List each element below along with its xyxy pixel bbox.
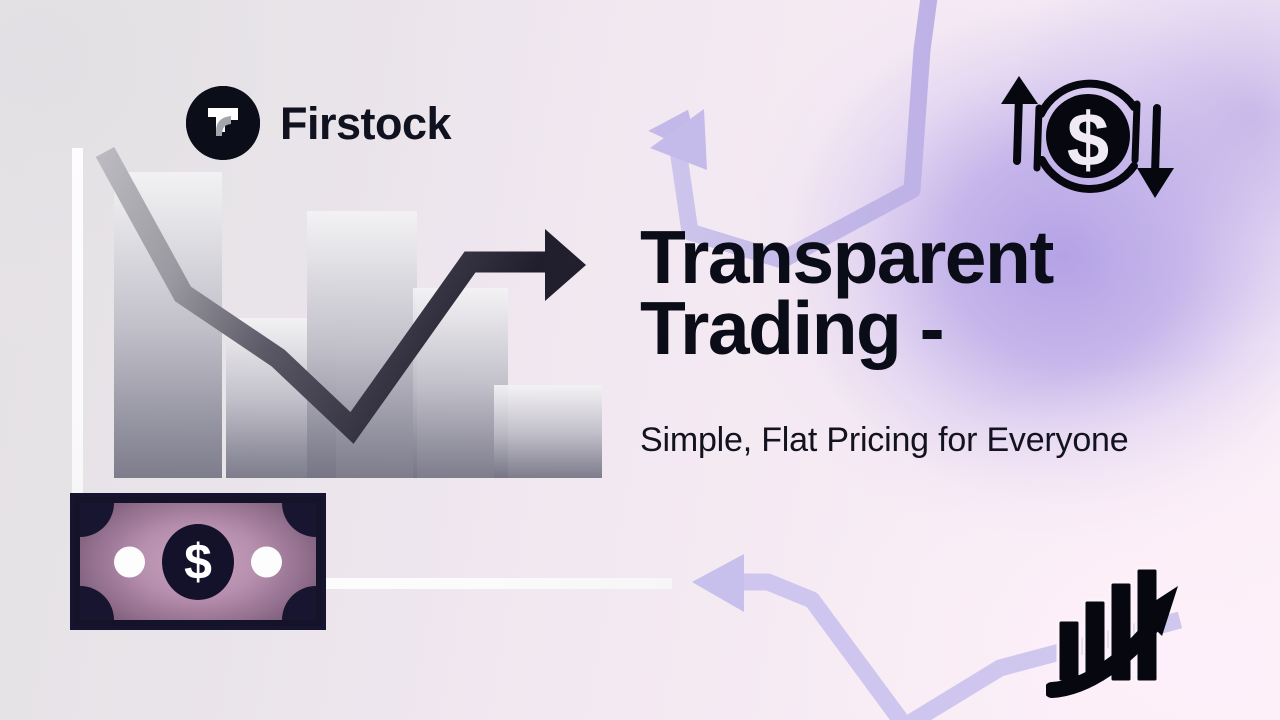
banknote-face: $ [80, 503, 316, 620]
banknote-dollar-seal: $ [162, 524, 234, 600]
brand-logo[interactable]: Firstock [186, 86, 451, 160]
firstock-logo-icon [186, 86, 260, 160]
page-title: Transparent Trading - [640, 222, 1200, 365]
brand-name: Firstock [280, 101, 451, 146]
banknote-corner [282, 503, 316, 537]
chart-bar [114, 172, 222, 478]
banknote-dot [251, 546, 282, 577]
growth-chart-icon [1046, 560, 1206, 710]
chart-bar [494, 385, 602, 478]
dollar-sign-glyph: $ [184, 537, 212, 587]
trend-arrowhead-icon [545, 229, 586, 301]
banknote-corner [80, 586, 114, 620]
banner-canvas: $ Firstock Transparent Trading - Simple,… [0, 0, 1280, 720]
svg-text:$: $ [1067, 98, 1109, 183]
chart-bar [307, 211, 417, 478]
dollar-banknote-icon: $ [70, 493, 326, 630]
banknote-corner [80, 503, 114, 537]
page-subtitle: Simple, Flat Pricing for Everyone [640, 421, 1220, 460]
headline-line-2: Trading - [640, 293, 1200, 364]
banknote-corner [282, 586, 316, 620]
banknote-dot [114, 546, 145, 577]
dollar-exchange-icon: $ [993, 56, 1183, 216]
